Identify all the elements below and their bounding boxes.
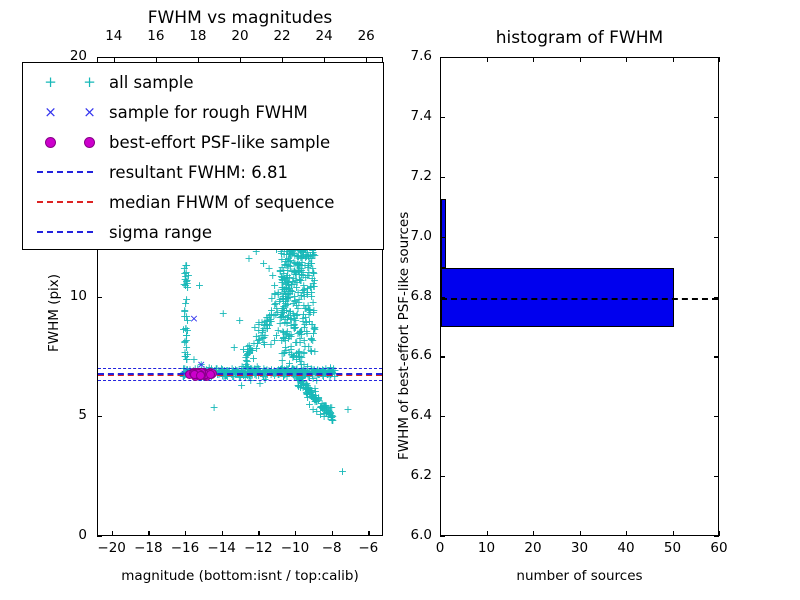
tick-label: 6.4 <box>411 407 432 423</box>
tick-mark <box>487 531 488 536</box>
tick-label: −6 <box>338 540 398 556</box>
tick-mark <box>714 297 719 298</box>
dashed-line-icon <box>37 171 93 173</box>
left-plot-legend: ++all sample××sample for rough FWHMbest-… <box>22 62 384 250</box>
tick-mark <box>714 356 719 357</box>
legend-label: best-effort PSF-like sample <box>109 133 330 152</box>
tick-mark <box>222 531 223 536</box>
legend-item: resultant FWHM: 6.81 <box>31 157 383 187</box>
data-point: + <box>310 281 319 292</box>
tick-mark <box>714 237 719 238</box>
data-point: + <box>304 341 313 352</box>
dashdot-line-icon <box>37 231 93 233</box>
tick-mark <box>295 531 296 536</box>
legend-item: median FHWM of sequence <box>31 187 383 217</box>
left-y-axis-label: FWHM (pix) <box>46 274 62 352</box>
tick-mark <box>673 57 674 62</box>
data-point: + <box>180 305 189 316</box>
tick-mark <box>185 531 186 536</box>
tick-label: 60 <box>689 540 749 556</box>
data-point: × <box>189 313 198 324</box>
data-point: + <box>284 277 293 288</box>
plus-icon: + <box>83 75 96 90</box>
legend-marker <box>31 231 109 233</box>
tick-mark <box>580 531 581 536</box>
data-point: + <box>317 402 326 413</box>
tick-mark <box>440 356 445 357</box>
tick-label: 7.6 <box>411 48 432 64</box>
tick-mark <box>714 416 719 417</box>
legend-label: sample for rough FWHM <box>109 103 308 122</box>
tick-label: 7.4 <box>411 108 432 124</box>
legend-label: median FHWM of sequence <box>109 193 334 212</box>
data-point: + <box>219 308 228 319</box>
legend-item: best-effort PSF-like sample <box>31 127 383 157</box>
data-point: + <box>295 352 304 363</box>
sigma-range-line <box>98 380 382 381</box>
legend-marker: ++ <box>31 75 109 90</box>
legend-label: all sample <box>109 73 194 92</box>
legend-marker <box>31 171 109 173</box>
right-x-axis-label: number of sources <box>440 568 719 584</box>
data-point: + <box>273 307 282 318</box>
data-point: + <box>230 342 239 353</box>
legend-marker: ×× <box>31 105 109 120</box>
cross-icon: × <box>44 105 57 120</box>
tick-mark <box>714 536 719 537</box>
dot-icon <box>45 137 56 148</box>
data-point: + <box>195 280 204 291</box>
tick-mark <box>440 536 445 537</box>
figure-canvas: FWHM vs magnitudes 14161820222426 −20−18… <box>0 0 800 600</box>
tick-label: 6.6 <box>411 347 432 363</box>
tick-mark <box>487 57 488 62</box>
dot-icon <box>84 137 95 148</box>
tick-mark <box>533 57 534 62</box>
tick-mark <box>258 531 259 536</box>
data-point: + <box>182 330 191 341</box>
data-point: + <box>293 380 302 391</box>
left-panel-title: FWHM vs magnitudes <box>97 8 383 28</box>
tick-mark <box>112 531 113 536</box>
tick-mark <box>440 177 445 178</box>
data-point: + <box>278 348 287 359</box>
tick-mark <box>97 416 102 417</box>
dashed-line-icon <box>37 201 93 203</box>
sigma-range-line <box>98 368 382 369</box>
histogram-data-layer <box>441 58 718 535</box>
legend-marker <box>31 201 109 203</box>
tick-mark <box>97 297 102 298</box>
tick-mark <box>580 57 581 62</box>
legend-item: ++all sample <box>31 67 383 97</box>
tick-mark <box>368 531 369 536</box>
data-point: + <box>310 322 319 333</box>
cross-icon: × <box>83 105 96 120</box>
data-point: + <box>259 323 268 334</box>
tick-mark <box>626 531 627 536</box>
tick-label: 6.8 <box>411 288 432 304</box>
data-point: + <box>306 307 315 318</box>
histogram-bar <box>441 199 446 268</box>
left-x-axis-label: magnitude (bottom:isnt / top:calib) <box>97 568 383 584</box>
tick-mark <box>714 476 719 477</box>
data-point: + <box>210 402 219 413</box>
right-y-axis-label: FWHM of best-effort PSF-like sources <box>396 212 412 460</box>
tick-mark <box>533 531 534 536</box>
data-point: + <box>343 404 352 415</box>
tick-mark <box>97 57 102 58</box>
data-point: + <box>338 466 347 477</box>
tick-mark <box>97 536 102 537</box>
tick-label: 7.0 <box>411 228 432 244</box>
tick-mark <box>626 57 627 62</box>
data-point: + <box>235 315 244 326</box>
tick-mark <box>714 117 719 118</box>
tick-label: 26 <box>336 28 396 44</box>
legend-label: resultant FWHM: 6.81 <box>109 163 288 182</box>
tick-mark <box>719 531 720 536</box>
tick-mark <box>673 531 674 536</box>
right-panel-title: histogram of FWHM <box>440 28 719 48</box>
legend-marker <box>31 137 109 148</box>
tick-mark <box>440 531 441 536</box>
plus-icon: + <box>44 75 57 90</box>
legend-item: ××sample for rough FWHM <box>31 97 383 127</box>
tick-mark <box>332 531 333 536</box>
tick-mark <box>440 297 445 298</box>
resultant-fwhm-line <box>98 373 382 375</box>
data-point: + <box>180 347 189 358</box>
tick-mark <box>719 57 720 62</box>
tick-mark <box>440 476 445 477</box>
data-point: + <box>182 267 191 278</box>
tick-mark <box>148 531 149 536</box>
legend-label: sigma range <box>109 223 212 242</box>
tick-mark <box>440 57 441 62</box>
data-point: + <box>241 361 250 372</box>
tick-mark <box>714 177 719 178</box>
data-point: + <box>245 347 254 358</box>
tick-mark <box>440 117 445 118</box>
tick-label: 6.2 <box>411 467 432 483</box>
tick-label: 7.2 <box>411 168 432 184</box>
data-point: + <box>260 339 269 350</box>
tick-mark <box>440 416 445 417</box>
median-dashed-line <box>441 298 718 300</box>
data-point: + <box>286 313 295 324</box>
legend-item: sigma range <box>31 217 383 247</box>
tick-mark <box>440 237 445 238</box>
